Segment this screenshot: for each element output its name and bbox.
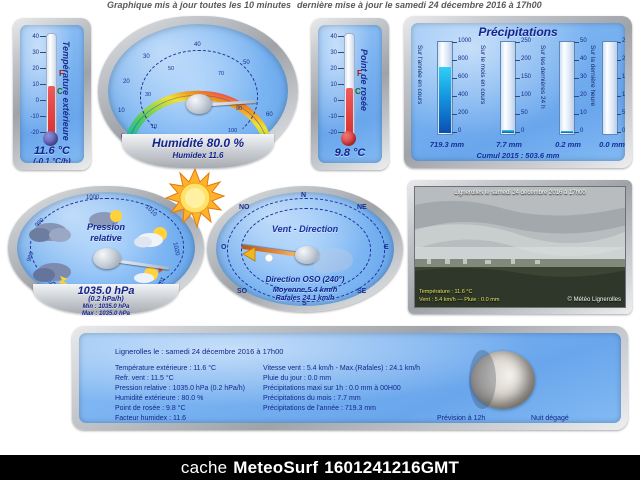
hum-outer-60: 60 [266,112,273,118]
temp-scale-20: 20 [23,66,39,72]
sun-icon [162,168,228,228]
footer-brand: MeteoSurf [233,458,318,478]
summary-panel[interactable]: Lignerolles le : samedi 24 décembre 2016… [72,326,628,430]
precip-tick [452,132,457,133]
moon-phase-icon [471,351,535,409]
temp-scale-40: 40 [23,34,39,40]
hum-inner-10: 10 [151,124,157,130]
precip-label-hour: Sur la dernière heure [589,45,596,106]
precip-tick [515,60,520,61]
summary-right-row: Précipitations maxi sur 1h : 0.0 mm à 00… [263,385,401,392]
header-update-interval: Graphique mis à jour toutes les 10 minut… [107,0,291,10]
wind-direction: Direction OSO (240°) [207,275,403,284]
precip-num-hour-0: 0 [622,128,625,134]
webcam-credit: © Météo Lignerolles [568,297,621,303]
precipitation-glass: Précipitations Sur l'année en cours 1000… [411,23,625,161]
dewpoint-bulb [341,131,356,146]
precip-tick [452,60,457,61]
precip-label-month: Sur le mois en cours [479,45,486,104]
temperature-tube [46,33,57,139]
precip-value-hour: 0.0 mm [587,140,625,149]
precip-num-hour-10: 10 [622,92,625,98]
summary-left-row: Point de rosée : 9.8 °C [115,405,186,412]
dew-scale-40: 40 [321,34,337,40]
pressure-min: Min : 1035.0 hPa [8,304,204,310]
webcam-caption: Lignerolles le samedi 24 décembre 2016 à… [415,190,625,196]
dew-unit-f: F [357,69,362,78]
precip-num-24h-30: 30 [580,74,587,80]
precip-fill-24h [561,131,573,133]
wind-speed: Moyenne 5.4 km/h [207,285,403,294]
humidity-panel[interactable]: 0 10 20 30 40 50 60 10 30 50 70 90 100 H… [98,16,298,172]
precip-value-year: 719.3 mm [419,140,475,149]
precip-label-24h: Sur les dernières 24 h [539,45,546,109]
dew-scale-m10: -10 [319,114,337,120]
temperature-bulb [43,131,58,146]
pressure-rate: (0.2 hPa/h) [8,296,204,303]
summary-left-row: Refr. vent : 11.5 °C [115,375,174,382]
hum-inner-50: 50 [168,66,174,72]
footer-code: 1601241216GMT [324,458,459,478]
dew-unit-c: C [355,87,361,96]
temperature-panel[interactable]: Température extérieure 40 30 20 10 0 -10… [13,18,91,170]
precip-num-year-600: 600 [458,74,468,80]
summary-left-row: Pression relative : 1035.0 hPa (0.2 hPa/… [115,385,245,392]
hum-outer-50: 50 [243,60,250,66]
precip-tick [574,78,579,79]
precip-num-24h-20: 20 [580,92,587,98]
precip-value-month: 7.7 mm [483,140,535,149]
precip-tick [617,96,621,97]
precip-tick [515,96,520,97]
forecast-label: Prévision à 12h [437,415,485,422]
webcam-overlay-temp: Température : 11.6 °C [419,289,472,295]
dashboard-header: Graphique mis à jour toutes les 10 minut… [0,0,640,13]
dew-scale-0: 0 [321,98,337,104]
dewpoint-panel[interactable]: Point de rosée 40 30 20 10 0 -10 -20 F C… [311,18,389,170]
precip-num-year-200: 200 [458,110,468,116]
temp-scale-m20: -20 [21,130,39,136]
precip-num-hour-15: 15 [622,74,625,80]
precip-tick [617,60,621,61]
temperature-rate: (-0.1 °C/h) [20,157,84,163]
dewpoint-tube [344,33,355,139]
temp-scale-10: 10 [23,82,39,88]
footer-cache-label: cache [181,458,227,478]
humidity-humidex: Humidex 11.6 [98,151,298,160]
precip-num-month-200: 200 [521,56,531,62]
dew-scale-30: 30 [321,50,337,56]
temp-scale-30: 30 [23,50,39,56]
forecast-text: Nuit dégagé [531,415,569,422]
precip-bar-24h [559,41,575,135]
precip-num-hour-20: 20 [622,56,625,62]
webcam-overlay-wind: Vent : 5.4 km/h — Pluie : 0.0 mm [419,297,499,303]
temp-scale-0: 0 [23,98,39,104]
precip-num-month-250: 250 [521,38,531,44]
summary-right-row: Vitesse vent : 5.4 km/h - Max.(Rafales) … [263,365,420,372]
precip-tick [574,96,579,97]
precip-tick [515,78,520,79]
wind-panel[interactable]: N NE E SE S SO O NO Vent - Direction Dir… [207,186,403,314]
precip-num-month-0: 0 [521,128,524,134]
precip-tick [574,114,579,115]
precip-label-year: Sur l'année en cours [416,45,423,104]
humidity-value: Humidité 80.0 % [98,136,298,150]
precipitation-title: Précipitations [411,25,625,39]
precip-tick [515,114,520,115]
precip-bar-month [500,41,516,135]
precipitation-panel[interactable]: Précipitations Sur l'année en cours 1000… [404,16,632,168]
footer-bar: cache MeteoSurf 1601241216GMT [0,455,640,480]
hum-inner-90: 90 [236,106,242,112]
precip-tick [452,114,457,115]
pressure-title-2: relative [8,233,204,243]
precip-num-hour-25: 25 [622,38,625,44]
summary-left-row: Température extérieure : 11.6 °C [115,365,216,372]
precip-num-year-400: 400 [458,92,468,98]
summary-glass: Lignerolles le : samedi 24 décembre 2016… [79,333,621,423]
precip-fill-year [439,67,451,133]
summary-left-row: Facteur humidex : 11.6 [115,415,186,422]
precip-fill-month [502,130,514,133]
hum-inner-30: 30 [145,92,151,98]
precip-tick [452,42,457,43]
temp-unit-f: F [59,69,64,78]
precip-num-hour-5: 5 [622,110,625,116]
summary-right-row: Pluie du jour : 0.0 mm [263,375,331,382]
precip-tick [617,114,621,115]
precip-tick [574,60,579,61]
precip-tick [574,132,579,133]
hum-outer-10: 10 [118,108,125,114]
precip-num-year-0: 0 [458,128,461,134]
temperature-glass: Température extérieure 40 30 20 10 0 -10… [20,25,84,163]
dew-scale-10: 10 [321,82,337,88]
dew-scale-20: 20 [321,66,337,72]
webcam-image: Lignerolles le samedi 24 décembre 2016 à… [414,186,626,308]
dew-scale-m20: -20 [319,130,337,136]
hum-outer-20: 20 [123,79,130,85]
hum-inner-70: 70 [218,71,224,77]
pressure-max: Max : 1035.0 hPa [8,311,204,317]
precip-num-month-150: 150 [521,74,531,80]
precip-num-24h-0: 0 [580,128,583,134]
precip-tick [617,132,621,133]
hum-outer-30: 30 [143,54,150,60]
precip-tick [617,78,621,79]
header-last-update: dernière mise à jour le samedi 24 décemb… [297,0,542,10]
dewpoint-value: 9.8 °C [318,147,382,159]
dewpoint-glass: Point de rosée 40 30 20 10 0 -10 -20 F C… [318,25,382,163]
hum-outer-40: 40 [194,42,201,48]
precip-bar-year [437,41,453,135]
precip-bar-hour [602,41,618,135]
precip-num-year-800: 800 [458,56,468,62]
precip-num-month-50: 50 [521,110,528,116]
precip-num-24h-40: 40 [580,56,587,62]
humidity-hub [186,94,212,114]
summary-left-row: Humidité extérieure : 80.0 % [115,395,203,402]
temp-scale-m10: -10 [21,114,39,120]
wind-gust: Rafales 24.1 km/h [207,295,403,302]
summary-right-row: Précipitations de l'année : 719.3 mm [263,405,376,412]
precip-tick [515,132,520,133]
temp-unit-c: C [57,87,63,96]
precip-num-24h-50: 50 [580,38,587,44]
precip-tick [515,42,520,43]
summary-right-row: Précipitations du mois : 7.7 mm [263,395,361,402]
precip-cumul-note: Cumul 2015 : 503.6 mm [411,151,625,160]
precip-num-month-100: 100 [521,92,531,98]
precip-tick [574,42,579,43]
pressure-hub [93,248,121,269]
precip-num-24h-10: 10 [580,110,587,116]
precip-tick [452,96,457,97]
precip-tick [452,78,457,79]
precip-tick [617,42,621,43]
temperature-value: 11.6 °C [20,145,84,157]
precip-num-year-1000: 1000 [458,38,471,44]
webcam-panel[interactable]: Lignerolles le samedi 24 décembre 2016 à… [408,180,632,314]
summary-title: Lignerolles le : samedi 24 décembre 2016… [115,347,283,356]
cloud-storm-icon [33,263,71,285]
dewpoint-title: Point de rosée [359,49,369,111]
